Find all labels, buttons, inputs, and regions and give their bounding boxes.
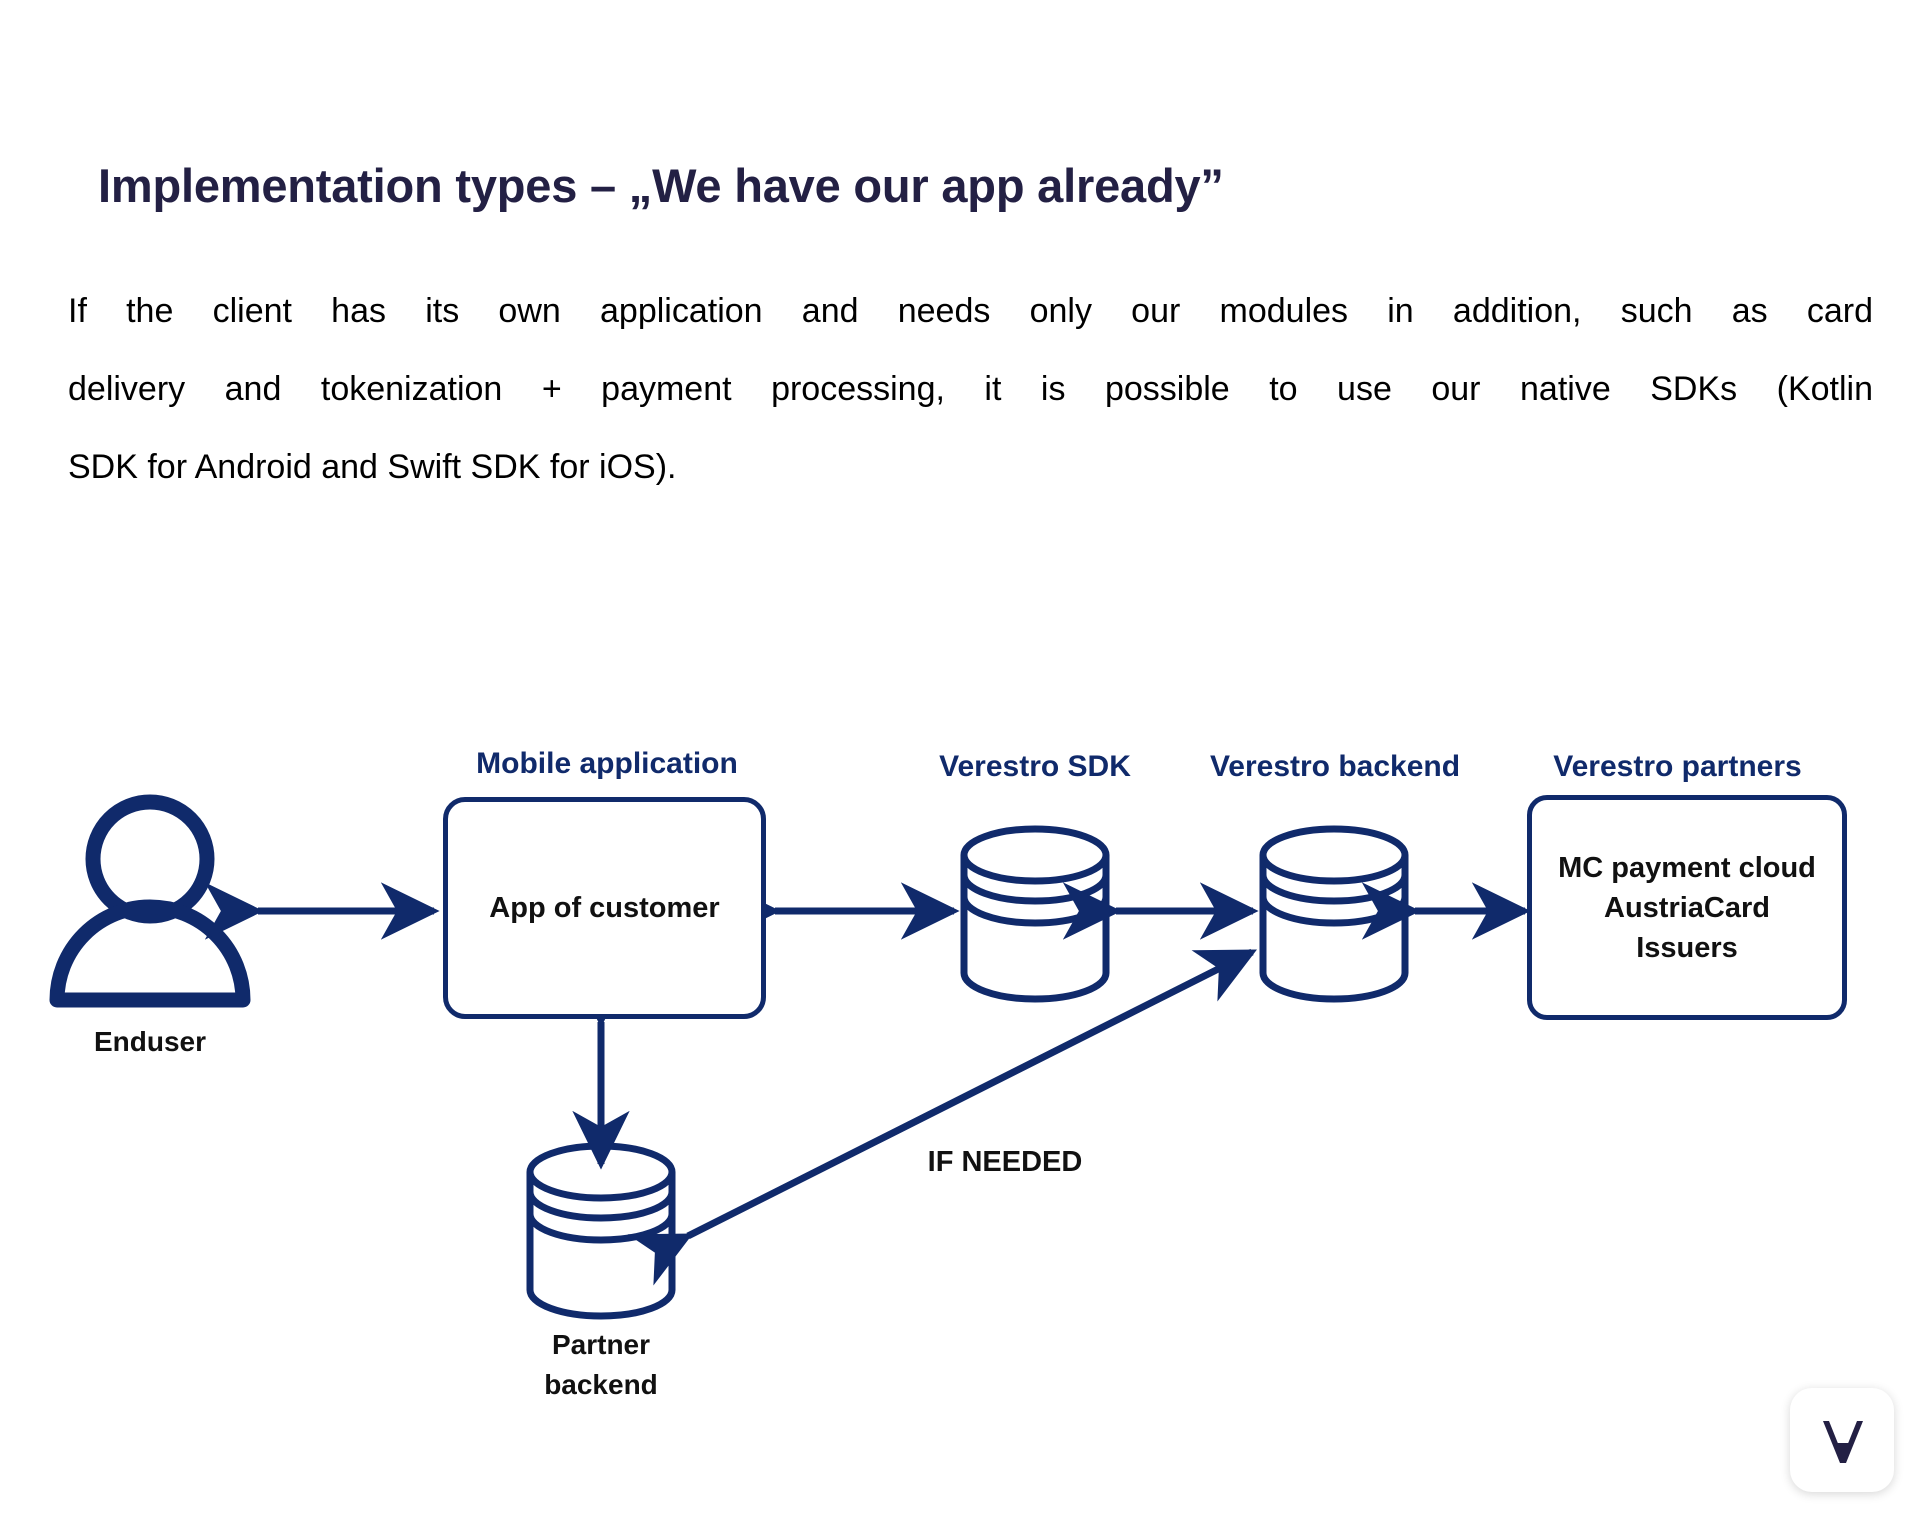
node-partner-backend-label-line-1: Partner bbox=[471, 1325, 731, 1365]
node-partner-backend-label-line-2: backend bbox=[471, 1365, 731, 1405]
diagram-label-verestro-partners: Verestro partners bbox=[1525, 750, 1830, 784]
verestro-v-icon bbox=[1813, 1411, 1871, 1469]
node-verestro-partners-line-2: AustriaCard bbox=[1604, 888, 1770, 928]
architecture-diagram: Mobile application Verestro SDK Verestro… bbox=[0, 0, 1920, 1536]
node-enduser-label: Enduser bbox=[50, 1022, 250, 1062]
diagram-label-mobile-application: Mobile application bbox=[452, 747, 762, 781]
database-icon-verestro-sdk bbox=[964, 829, 1106, 999]
database-icon-verestro-backend bbox=[1263, 829, 1405, 999]
edge-label-if-needed: IF NEEDED bbox=[880, 1142, 1130, 1182]
database-icon-partner-backend bbox=[530, 1146, 672, 1316]
verestro-logo[interactable] bbox=[1790, 1388, 1894, 1492]
node-verestro-partners-line-1: MC payment cloud bbox=[1558, 848, 1816, 888]
diagram-label-verestro-sdk: Verestro SDK bbox=[920, 750, 1150, 784]
diagram-label-verestro-backend: Verestro backend bbox=[1185, 750, 1485, 784]
node-verestro-partners[interactable]: MC payment cloud AustriaCard Issuers bbox=[1527, 795, 1847, 1020]
node-app-of-customer[interactable]: App of customer bbox=[443, 797, 766, 1019]
arrow-if-needed bbox=[688, 952, 1252, 1236]
node-app-of-customer-label: App of customer bbox=[489, 888, 719, 928]
person-icon bbox=[57, 802, 243, 1000]
node-verestro-partners-line-3: Issuers bbox=[1636, 928, 1738, 968]
node-partner-backend-label: Partner backend bbox=[471, 1325, 731, 1405]
